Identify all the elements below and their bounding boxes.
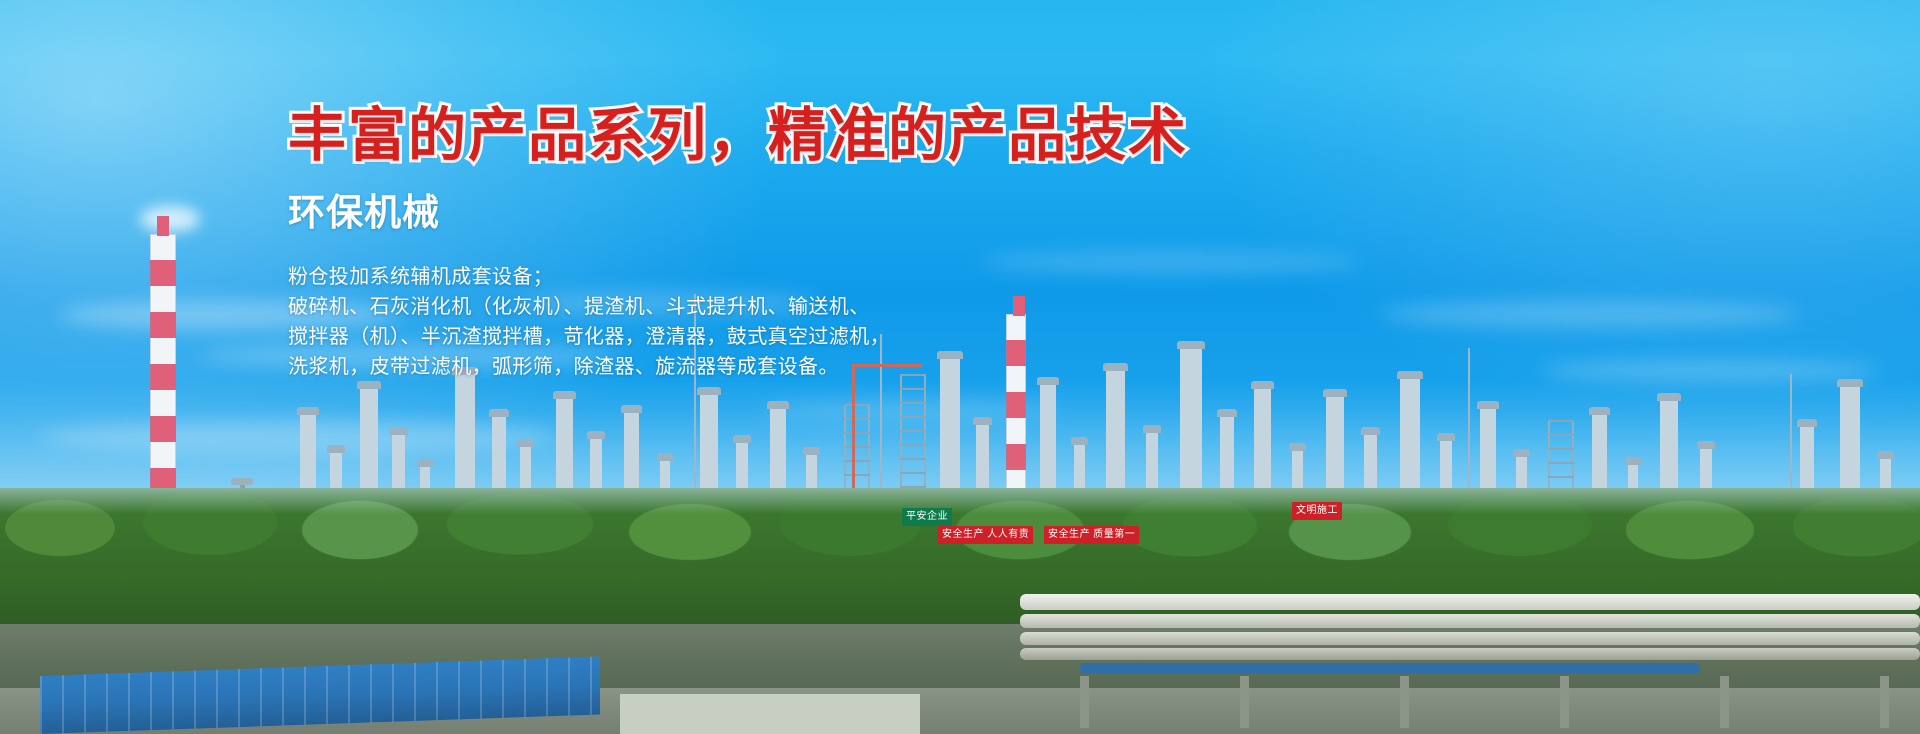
- smoke-plume: [140, 206, 200, 232]
- pipe-rack: [1020, 590, 1920, 682]
- banner-subtitle: 环保机械: [288, 193, 1468, 234]
- pipe-support: [1560, 676, 1569, 728]
- site-sign-civil-construction: 文明施工: [1292, 502, 1342, 520]
- pipe-line: [1020, 648, 1920, 660]
- site-sign-safe-enterprise: 平安企业: [902, 508, 952, 526]
- pipe-line: [1020, 614, 1920, 628]
- description-line: 破碎机、石灰消化机（化灰机）、提渣机、斗式提升机、输送机、: [288, 292, 1468, 322]
- description-line: 粉仓投加系统辅机成套设备；: [288, 262, 1468, 292]
- banner-copy: 丰富的产品系列，精准的产品技术 环保机械 粉仓投加系统辅机成套设备； 破碎机、石…: [288, 106, 1468, 382]
- pipe-line: [1020, 632, 1920, 645]
- pipe-support: [1720, 676, 1729, 728]
- pipe-line: [1020, 594, 1920, 610]
- site-sign-safety-production: 安全生产 人人有责: [938, 526, 1033, 544]
- pipe-support: [1400, 676, 1409, 728]
- banner-description: 粉仓投加系统辅机成套设备； 破碎机、石灰消化机（化灰机）、提渣机、斗式提升机、输…: [288, 262, 1468, 382]
- pipe-support: [1240, 676, 1249, 728]
- pipe-support: [1080, 676, 1089, 728]
- site-sign-quality-first: 安全生产 质量第一: [1044, 526, 1139, 544]
- pipe-support: [1880, 676, 1889, 728]
- description-line: 洗浆机，皮带过滤机，弧形筛，除渣器、旋流器等成套设备。: [288, 352, 1468, 382]
- banner-headline: 丰富的产品系列，精准的产品技术: [288, 106, 1468, 167]
- description-line: 搅拌器（机）、半沉渣搅拌槽，苛化器，澄清器，鼓式真空过滤机，: [288, 322, 1468, 352]
- white-wall-building: [620, 694, 920, 734]
- hero-banner: 安全生产 人人有责 安全生产 质量第一 平安企业 文明施工 丰富的产品系列，精准…: [0, 0, 1920, 734]
